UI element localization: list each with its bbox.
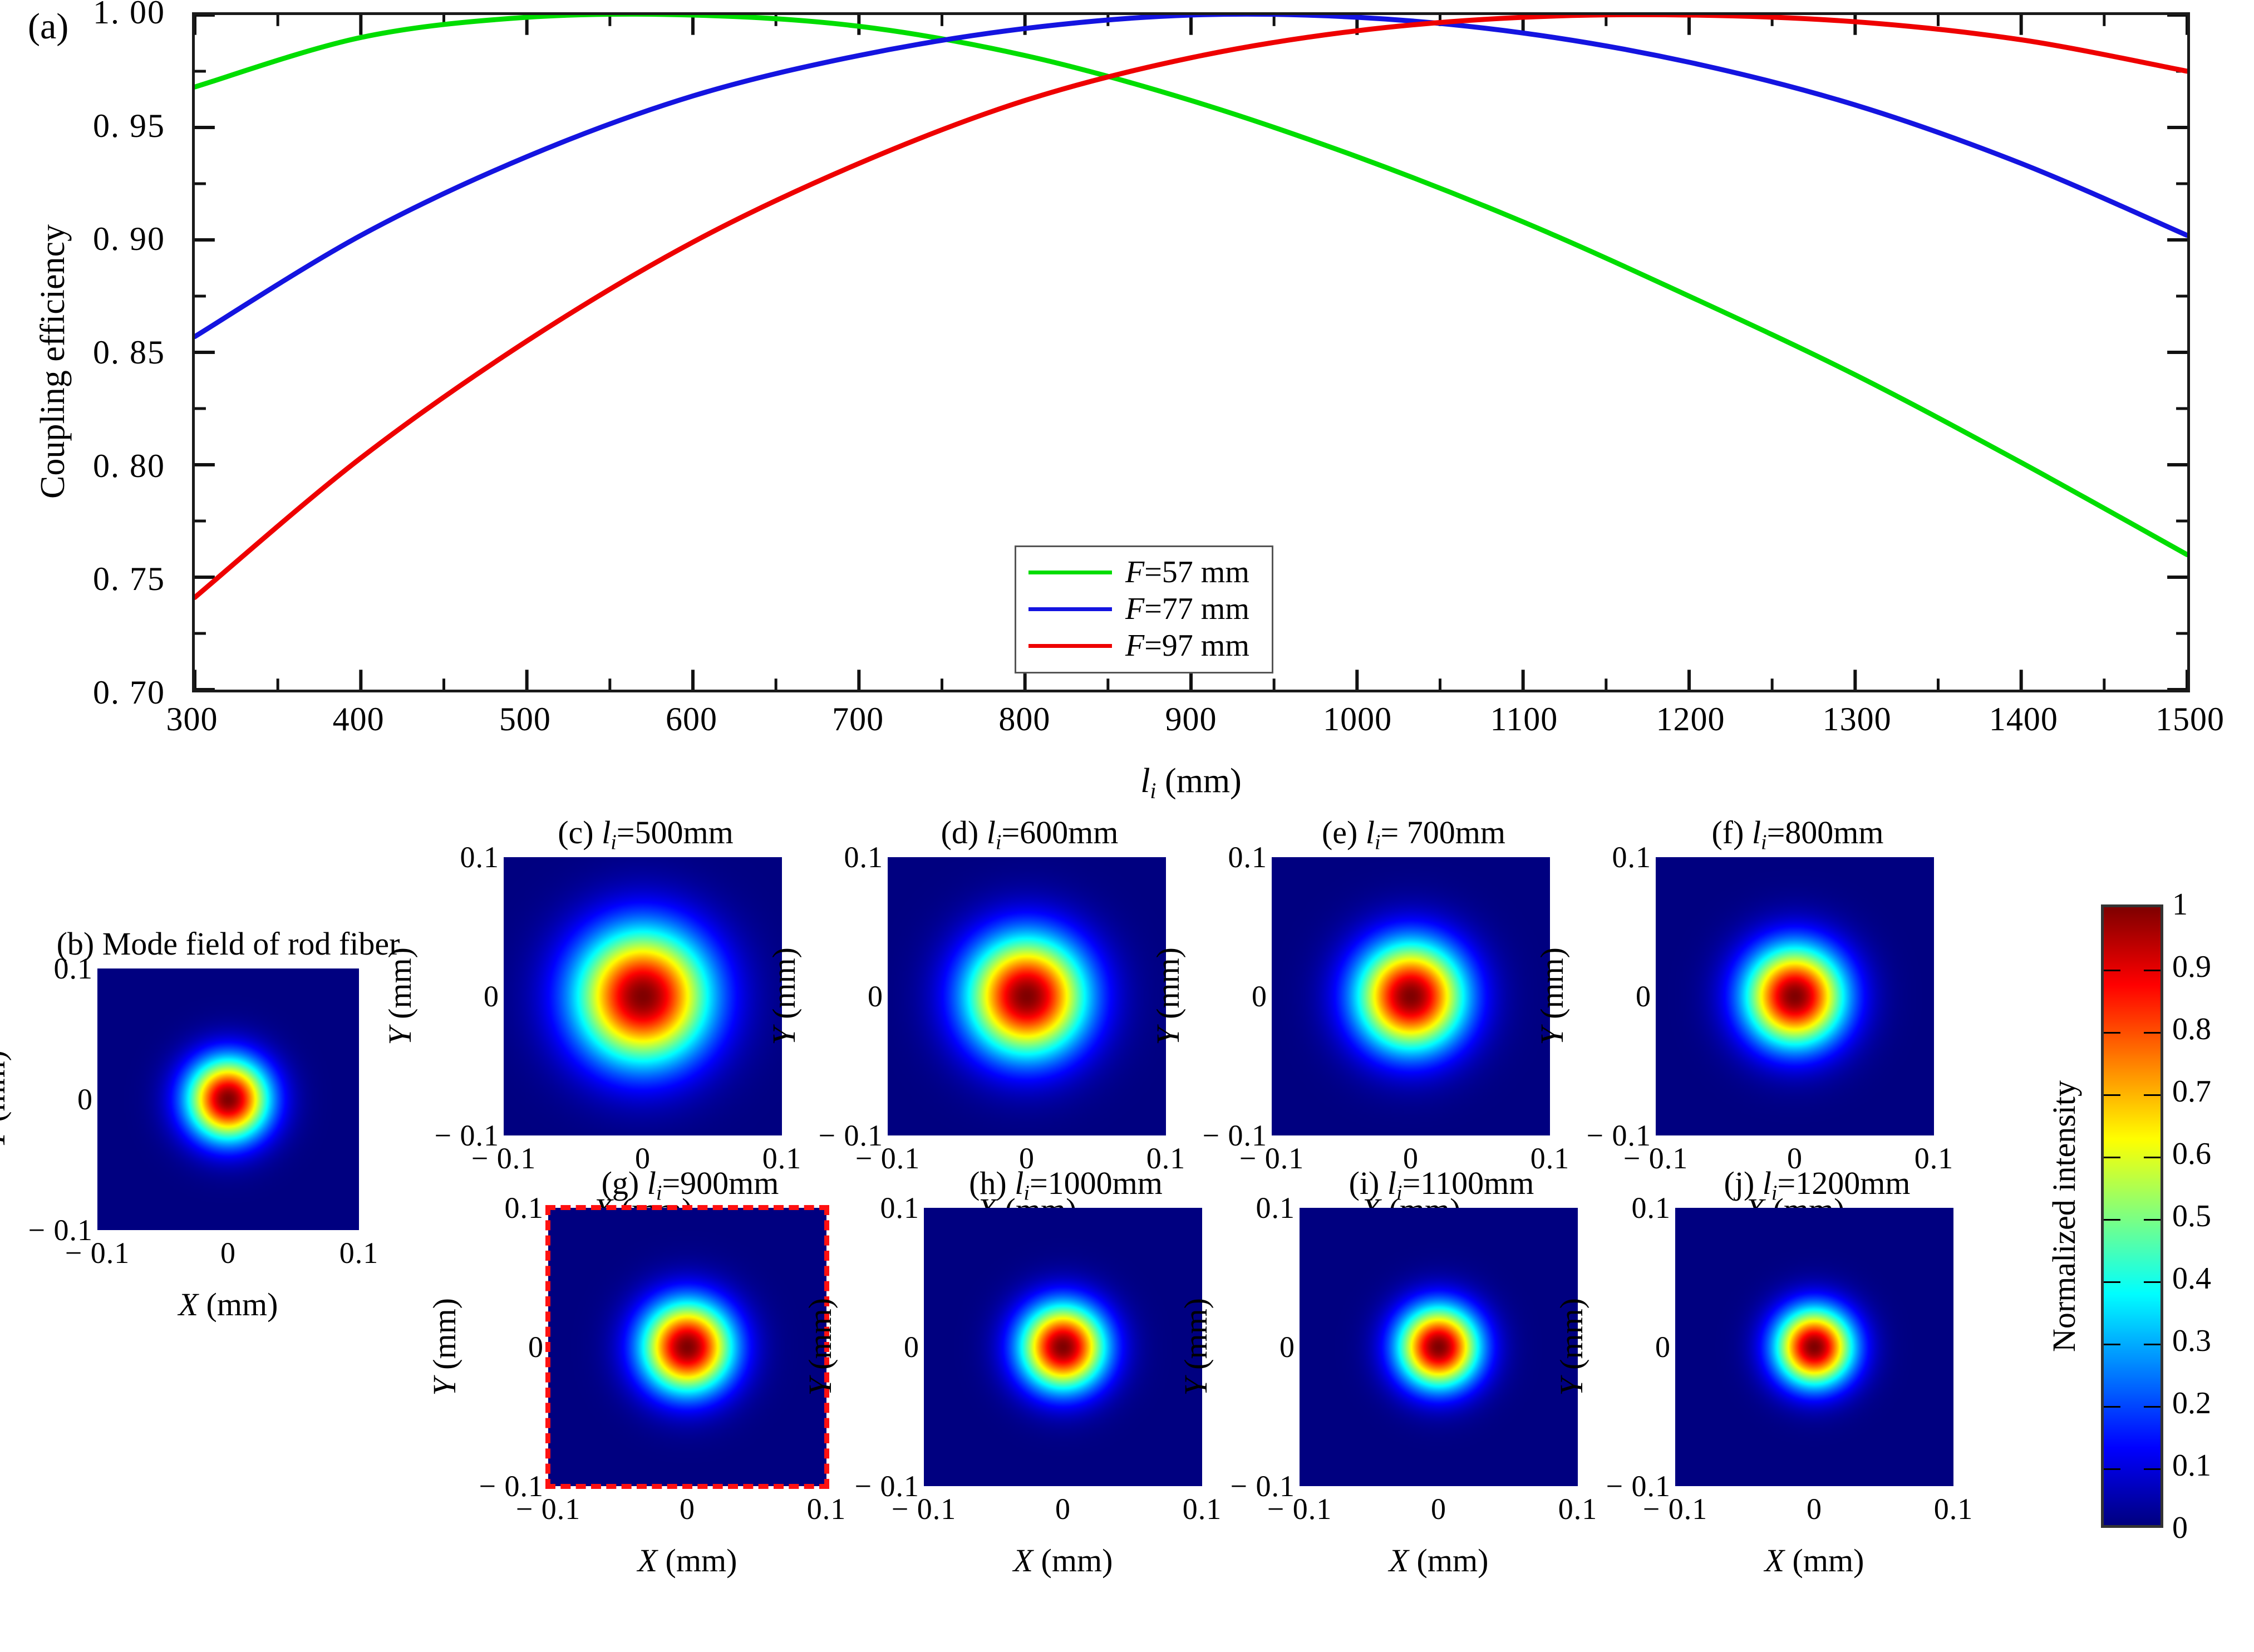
panel-h-title-prefix: (h) xyxy=(969,1165,1015,1201)
panel-b-x-tick-2: 0.1 xyxy=(339,1238,379,1268)
colorbar-tickmark-left-1 xyxy=(2104,970,2120,971)
panel-j-title: (j) li=1200mm xyxy=(1675,1164,1959,1206)
panel-d-y-tick-0: 0.1 xyxy=(844,842,884,872)
panel-i-title-subscript: i xyxy=(1396,1182,1402,1205)
panel-f-image xyxy=(1656,857,1934,1135)
panel-e-y-tick-0: 0.1 xyxy=(1228,842,1268,872)
panel-a-line-chart: (a) 1. 000. 950. 900. 850. 800. 750. 70 … xyxy=(0,0,2254,835)
panel-a-x-tick-11: 1400 xyxy=(1989,702,2058,736)
panel-g-title-rest: =900mm xyxy=(662,1165,779,1201)
panel-g-image xyxy=(548,1208,826,1486)
panel-c-title-subscript: i xyxy=(611,831,617,854)
panel-i-title: (i) li=1100mm xyxy=(1300,1164,1583,1206)
colorbar-tickmark-left-4 xyxy=(2104,1157,2120,1158)
panel-h-x-tick-0: − 0.1 xyxy=(892,1494,956,1524)
panel-j-x-tick-0: − 0.1 xyxy=(1643,1494,1707,1524)
panel-i-x-axis-title: X (mm) xyxy=(1300,1542,1578,1579)
panel-a-x-tick-10: 1300 xyxy=(1823,702,1892,736)
panel-a-y-tick-1: 0. 95 xyxy=(93,109,181,142)
panel-j-x-axis-title-var: X xyxy=(1765,1542,1784,1579)
panel-d-image xyxy=(888,857,1166,1135)
legend-swatch-1 xyxy=(1028,607,1112,611)
panel-j-y-axis-title: Y (mm) xyxy=(1553,1241,1590,1453)
colorbar-tickmark-right-6 xyxy=(2144,1281,2161,1283)
panel-b-y-tick-0: 0.1 xyxy=(54,953,93,984)
panel-i-x-tick-2: 0.1 xyxy=(1558,1494,1598,1524)
panel-f-y-axis-title: Y (mm) xyxy=(1533,891,1571,1102)
legend-swatch-2 xyxy=(1028,644,1112,648)
panel-h-x-tick-2: 0.1 xyxy=(1183,1494,1222,1524)
legend-swatch-0 xyxy=(1028,571,1112,574)
panel-e-title-prefix: (e) xyxy=(1322,814,1366,850)
panel-a-x-tick-4: 700 xyxy=(832,702,884,736)
panel-c-x-tick-0: − 0.1 xyxy=(471,1143,536,1173)
panel-a-x-tick-1: 400 xyxy=(333,702,385,736)
panel-g-y-tick-1: 0 xyxy=(528,1332,544,1362)
panel-a-y-axis-title: Coupling efficiency xyxy=(33,150,73,573)
panel-h-image xyxy=(924,1208,1202,1486)
colorbar-tick-3: 0.7 xyxy=(2172,1076,2211,1107)
legend-label-0: F=57 mm xyxy=(1125,554,1249,590)
panel-c-y-tick-0: 0.1 xyxy=(460,842,500,872)
colorbar-tick-6: 0.4 xyxy=(2172,1263,2211,1294)
colorbar-tickmark-right-8 xyxy=(2144,1406,2161,1408)
panel-a-y-tick-labels: 1. 000. 950. 900. 850. 800. 750. 70 xyxy=(0,12,181,692)
panel-f-title-rest: =800mm xyxy=(1767,814,1884,850)
panel-j-x-axis-title-unit: (mm) xyxy=(1784,1542,1864,1579)
panel-i-title-prefix: (i) xyxy=(1349,1165,1387,1201)
legend-item-2: F=97 mm xyxy=(1016,627,1272,664)
colorbar-tick-9: 0.1 xyxy=(2172,1450,2211,1481)
colorbar-tickmark-right-5 xyxy=(2144,1219,2161,1221)
panel-a-x-tick-3: 600 xyxy=(666,702,717,736)
panel-g-heatmap: (g) li=900mm0.10− 0.1− 0.100.1Y (mm)X (m… xyxy=(548,1208,832,1614)
panel-c-y-tick-1: 0 xyxy=(484,981,499,1011)
colorbar-tick-7: 0.3 xyxy=(2172,1325,2211,1356)
panel-a-x-axis-title-var: l xyxy=(1140,762,1150,800)
panel-h-x-axis-title-var: X xyxy=(1013,1542,1033,1579)
colorbar-tickmark-left-5 xyxy=(2104,1219,2120,1221)
panel-d-title-prefix: (d) xyxy=(941,814,987,850)
colorbar-tickmark-right-2 xyxy=(2144,1032,2161,1034)
panel-e-title: (e) li= 700mm xyxy=(1272,814,1556,855)
colorbar-gradient xyxy=(2101,904,2163,1528)
legend-label-rest-1: =77 mm xyxy=(1144,592,1249,626)
panel-h-x-tick-1: 0 xyxy=(1055,1494,1071,1524)
panel-a-x-tick-6: 900 xyxy=(1165,702,1217,736)
panel-j-title-subscript: i xyxy=(1771,1182,1778,1205)
panel-b-x-tick-1: 0 xyxy=(220,1238,236,1268)
panel-i-y-axis-title-text: Y (mm) xyxy=(1177,1298,1214,1396)
colorbar-tick-5: 0.5 xyxy=(2172,1201,2211,1232)
panel-d-y-axis-title-text: Y (mm) xyxy=(765,947,803,1045)
legend-label-rest-0: =57 mm xyxy=(1144,555,1249,589)
colorbar-tick-8: 0.2 xyxy=(2172,1388,2211,1419)
panel-i-heatmap: (i) li=1100mm0.10− 0.1− 0.100.1Y (mm)X (… xyxy=(1300,1208,1583,1614)
panel-i-x-tick-1: 0 xyxy=(1431,1494,1446,1524)
colorbar-tick-0: 1 xyxy=(2172,889,2188,920)
panel-e-y-axis-title: Y (mm) xyxy=(1149,891,1187,1102)
panel-i-y-tick-1: 0 xyxy=(1279,1332,1295,1362)
panel-b-y-tick-1: 0 xyxy=(77,1084,93,1114)
panel-b-title-text: (b) Mode field of rod fiber xyxy=(57,926,400,962)
panel-i-x-axis-title-unit: (mm) xyxy=(1409,1542,1488,1579)
panel-e-x-tick-0: − 0.1 xyxy=(1239,1143,1304,1173)
panel-a-y-axis-title-text: Coupling efficiency xyxy=(33,224,73,499)
colorbar-tickmark-right-9 xyxy=(2144,1468,2161,1470)
panel-f-y-axis-title-text: Y (mm) xyxy=(1533,947,1571,1045)
panel-a-x-tick-5: 800 xyxy=(998,702,1050,736)
panel-d-x-tick-0: − 0.1 xyxy=(855,1143,920,1173)
panel-a-x-axis-title-subscript: i xyxy=(1150,778,1156,803)
colorbar-tickmark-left-6 xyxy=(2104,1281,2120,1283)
panel-d-title-var: l xyxy=(987,814,996,850)
panel-i-x-tick-0: − 0.1 xyxy=(1267,1494,1332,1524)
legend-label-rest-2: =97 mm xyxy=(1144,628,1249,663)
panel-j-y-axis-title-text: Y (mm) xyxy=(1553,1298,1590,1396)
panel-g-x-tick-1: 0 xyxy=(680,1494,695,1524)
panel-h-title-rest: =1000mm xyxy=(1030,1165,1163,1201)
panel-h-heatmap: (h) li=1000mm0.10− 0.1− 0.100.1Y (mm)X (… xyxy=(924,1208,1208,1614)
panel-h-title-subscript: i xyxy=(1023,1182,1030,1205)
panel-a-x-tick-labels: 3004005006007008009001000110012001300140… xyxy=(192,702,2190,753)
panel-h-x-axis-title: X (mm) xyxy=(924,1542,1202,1579)
panel-h-y-axis-title: Y (mm) xyxy=(801,1241,839,1453)
panel-c-y-axis-title-text: Y (mm) xyxy=(381,947,419,1045)
panel-j-image xyxy=(1675,1208,1953,1486)
panel-f-title-prefix: (f) xyxy=(1711,814,1751,850)
panel-a-y-tick-2: 0. 90 xyxy=(93,222,181,255)
panel-d-title-subscript: i xyxy=(996,831,1002,854)
panel-a-x-axis-title: li (mm) xyxy=(192,761,2190,804)
panel-a-x-axis-title-unit: (mm) xyxy=(1156,762,1242,800)
panel-e-y-tick-1: 0 xyxy=(1252,981,1267,1011)
panel-j-title-rest: =1200mm xyxy=(1777,1165,1910,1201)
panel-c-title-rest: =500mm xyxy=(617,814,734,850)
panel-d-y-tick-1: 0 xyxy=(868,981,883,1011)
colorbar-tick-1: 0.9 xyxy=(2172,951,2211,982)
panel-g-title-var: l xyxy=(647,1165,656,1201)
panel-h-y-axis-title-text: Y (mm) xyxy=(801,1298,839,1396)
legend-label-var-2: F xyxy=(1125,628,1144,663)
legend-label-var-0: F xyxy=(1125,555,1144,589)
panel-i-y-axis-title: Y (mm) xyxy=(1177,1241,1214,1453)
panel-c-image xyxy=(504,857,782,1135)
panel-a-y-tick-5: 0. 75 xyxy=(93,562,181,596)
colorbar-tickmark-right-3 xyxy=(2144,1094,2161,1096)
panel-e-image xyxy=(1272,857,1550,1135)
panel-g-y-axis-title-text: Y (mm) xyxy=(426,1298,463,1396)
colorbar-tickmark-right-7 xyxy=(2144,1344,2161,1345)
panel-e-title-var: l xyxy=(1366,814,1375,850)
colorbar-tickmark-left-2 xyxy=(2104,1032,2120,1034)
panel-d-title-rest: =600mm xyxy=(1001,814,1118,850)
panel-a-legend: F=57 mmF=77 mmF=97 mm xyxy=(1015,545,1273,673)
panel-h-x-axis-title-unit: (mm) xyxy=(1033,1542,1113,1579)
panel-j-x-tick-1: 0 xyxy=(1807,1494,1822,1524)
panel-c-title-var: l xyxy=(602,814,611,850)
panel-c-title: (c) li=500mm xyxy=(504,814,788,855)
panel-g-title-subscript: i xyxy=(656,1182,662,1205)
panel-a-y-tick-4: 0. 80 xyxy=(93,449,181,483)
panel-a-y-tick-0: 1. 00 xyxy=(93,0,181,29)
panel-j-x-axis-title: X (mm) xyxy=(1675,1542,1953,1579)
panel-i-y-tick-0: 0.1 xyxy=(1256,1193,1296,1223)
panel-f-title-subscript: i xyxy=(1761,831,1767,854)
panel-e-y-axis-title-text: Y (mm) xyxy=(1149,947,1187,1045)
panel-j-title-var: l xyxy=(1763,1165,1771,1201)
panel-b-x-axis-title: X (mm) xyxy=(97,1286,359,1323)
panel-f-y-tick-1: 0 xyxy=(1636,981,1651,1011)
panel-f-title: (f) li=800mm xyxy=(1656,814,1940,855)
panel-j-title-prefix: (j) xyxy=(1724,1165,1763,1201)
panel-g-y-tick-0: 0.1 xyxy=(505,1193,544,1223)
panel-a-x-tick-2: 500 xyxy=(499,702,551,736)
panel-b-y-axis-title-text: Y (mm) xyxy=(0,1050,12,1148)
panel-j-y-tick-1: 0 xyxy=(1655,1332,1671,1362)
legend-label-2: F=97 mm xyxy=(1125,628,1249,663)
panel-g-x-tick-2: 0.1 xyxy=(807,1494,847,1524)
legend-item-1: F=77 mm xyxy=(1016,591,1272,627)
panel-i-title-rest: =1100mm xyxy=(1402,1165,1534,1201)
panel-c-y-axis-title: Y (mm) xyxy=(381,891,419,1102)
panel-d-y-axis-title: Y (mm) xyxy=(765,891,803,1102)
panel-h-y-tick-1: 0 xyxy=(904,1332,919,1362)
panel-j-x-tick-2: 0.1 xyxy=(1934,1494,1974,1524)
panel-h-title: (h) li=1000mm xyxy=(924,1164,1208,1206)
panel-f-y-tick-0: 0.1 xyxy=(1612,842,1652,872)
panel-a-x-tick-0: 300 xyxy=(166,702,218,736)
legend-item-0: F=57 mm xyxy=(1016,554,1272,591)
panel-f-title-var: l xyxy=(1752,814,1761,850)
colorbar-tickmark-right-1 xyxy=(2144,970,2161,971)
panel-a-x-tick-7: 1000 xyxy=(1323,702,1392,736)
panel-e-title-subscript: i xyxy=(1375,831,1381,854)
panel-a-x-tick-8: 1100 xyxy=(1490,702,1558,736)
panel-b-x-axis-title-var: X xyxy=(179,1286,198,1322)
panel-i-image xyxy=(1300,1208,1578,1486)
legend-label-1: F=77 mm xyxy=(1125,591,1249,627)
panel-b-heatmap: (b) Mode field of rod fiber0.10− 0.1− 0.… xyxy=(97,968,365,1358)
panel-e-title-rest: = 700mm xyxy=(1381,814,1505,850)
panel-h-y-tick-0: 0.1 xyxy=(880,1193,920,1223)
panel-b-y-axis-title: Y (mm) xyxy=(0,1000,12,1198)
panel-b-image xyxy=(97,968,359,1230)
panel-g-x-axis-title-unit: (mm) xyxy=(657,1542,737,1579)
panel-i-x-axis-title-var: X xyxy=(1389,1542,1409,1579)
legend-label-var-1: F xyxy=(1125,592,1144,626)
colorbar-tickmark-left-8 xyxy=(2104,1406,2120,1408)
panel-g-x-tick-0: − 0.1 xyxy=(516,1494,580,1524)
colorbar-tick-10: 0 xyxy=(2172,1512,2188,1543)
colorbar-axis-title: Normalized intensity xyxy=(2045,994,2083,1439)
panel-g-x-axis-title: X (mm) xyxy=(548,1542,826,1579)
colorbar-tickmark-right-4 xyxy=(2144,1157,2161,1158)
panel-d-title: (d) li=600mm xyxy=(888,814,1172,855)
panel-h-title-var: l xyxy=(1015,1165,1023,1201)
colorbar-tickmark-left-7 xyxy=(2104,1344,2120,1345)
panel-g-title-prefix: (g) xyxy=(602,1165,647,1201)
panel-i-title-var: l xyxy=(1387,1165,1396,1201)
colorbar-tick-4: 0.6 xyxy=(2172,1138,2211,1169)
panel-a-x-tick-9: 1200 xyxy=(1656,702,1725,736)
colorbar-tickmark-left-3 xyxy=(2104,1094,2120,1096)
panel-b-x-tick-0: − 0.1 xyxy=(65,1238,130,1268)
panel-g-y-axis-title: Y (mm) xyxy=(426,1241,463,1453)
colorbar-tick-2: 0.8 xyxy=(2172,1014,2211,1045)
panel-a-y-tick-3: 0. 85 xyxy=(93,336,181,369)
panel-g-x-axis-title-var: X xyxy=(638,1542,657,1579)
panel-a-series-1 xyxy=(195,15,2187,337)
colorbar-group: 10.90.80.70.60.50.40.30.20.10 Normalized… xyxy=(2101,904,2254,1528)
panel-c-title-prefix: (c) xyxy=(558,814,602,850)
panel-a-series-0 xyxy=(195,15,2187,555)
colorbar-tickmark-left-9 xyxy=(2104,1468,2120,1470)
panel-b-x-axis-title-unit: (mm) xyxy=(198,1286,278,1322)
colorbar-axis-title-text: Normalized intensity xyxy=(2045,1080,2083,1352)
panel-a-x-tick-12: 1500 xyxy=(2155,702,2225,736)
figure-root: (a) 1. 000. 950. 900. 850. 800. 750. 70 … xyxy=(0,0,2254,1652)
panel-j-heatmap: (j) li=1200mm0.10− 0.1− 0.100.1Y (mm)X (… xyxy=(1675,1208,1959,1614)
panel-j-y-tick-0: 0.1 xyxy=(1632,1193,1671,1223)
panel-g-title: (g) li=900mm xyxy=(548,1164,832,1206)
